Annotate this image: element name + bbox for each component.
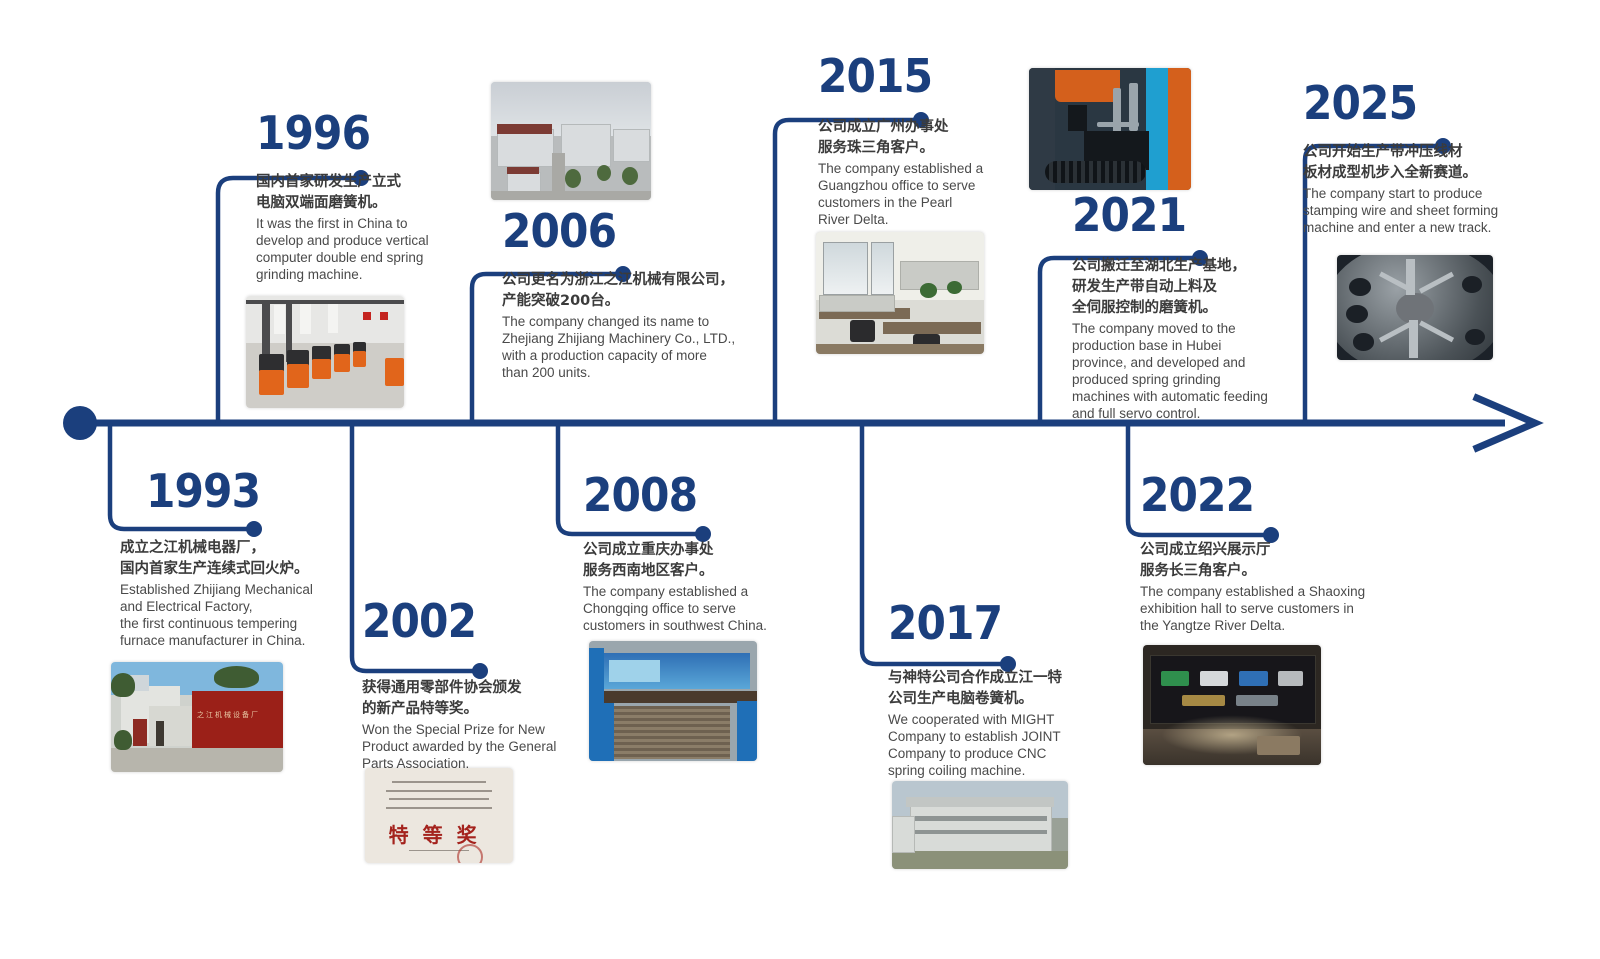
milestone-year-1996: 1996 (256, 110, 449, 156)
milestone-year-1993: 1993 (146, 468, 358, 514)
photo-2025-stamping-forming-machine (1337, 255, 1493, 360)
milestone-en-2025: The company start to produce stamping wi… (1303, 185, 1518, 236)
milestone-cn-2008: 公司成立重庆办事处 服务西南地区客户。 (583, 540, 813, 582)
timeline-infographic: 1996 国内首家研发生产立式 电脑双端面磨簧机。 It was the fir… (0, 0, 1600, 959)
photo-2006-factory-aerial (491, 82, 651, 200)
milestone-year-2002: 2002 (362, 598, 564, 644)
milestone-en-2002: Won the Special Prize for New Product aw… (362, 721, 592, 772)
photo-2022-shaoxing-showroom (1143, 645, 1321, 765)
milestone-en-2008: The company established a Chongqing offi… (583, 583, 813, 634)
photo-1993-red-wall-factory: 之江机械设备厂 (111, 662, 283, 772)
milestone-cn-2021: 公司搬迁至湖北生产基地， 研发生产带自动上料及 全伺服控制的磨簧机。 (1072, 256, 1287, 319)
milestone-2022-text[interactable]: 公司成立绍兴展示厅 服务长三角客户。 The company establish… (1140, 540, 1410, 634)
milestone-cn-2017: 与神特公司合作成立江一特 公司生产电脑卷簧机。 (888, 668, 1098, 710)
milestone-cn-2015: 公司成立广州办事处 服务珠三角客户。 (818, 117, 1018, 159)
milestone-2017[interactable]: 2017 (888, 600, 1108, 646)
milestone-2017-text[interactable]: 与神特公司合作成立江一特 公司生产电脑卷簧机。 We cooperated wi… (888, 668, 1098, 779)
milestone-1996[interactable]: 1996 国内首家研发生产立式 电脑双端面磨簧机。 It was the fir… (256, 110, 466, 283)
milestone-2008[interactable]: 2008 (583, 472, 803, 518)
milestone-year-2017: 2017 (888, 600, 1090, 646)
node-dot-1993 (246, 521, 262, 537)
milestone-en-1996: It was the first in China to develop and… (256, 215, 466, 283)
photo-2017-joint-company-plant (892, 781, 1068, 869)
milestone-en-2015: The company established a Guangzhou offi… (818, 160, 1018, 228)
milestone-en-2021: The company moved to the production base… (1072, 320, 1287, 422)
milestone-cn-2025: 公司开始生产带冲压线材 板材成型机步入全新赛道。 (1303, 142, 1518, 184)
milestone-year-2022: 2022 (1140, 472, 1342, 518)
milestone-2015[interactable]: 2015 公司成立广州办事处 服务珠三角客户。 The company esta… (818, 53, 1018, 228)
photo-2021-automatic-feeding-machine (1029, 68, 1191, 190)
node-dot-2002 (472, 663, 488, 679)
milestone-cn-1996: 国内首家研发生产立式 电脑双端面磨簧机。 (256, 172, 466, 214)
milestone-2002-text[interactable]: 获得通用零部件协会颁发 的新产品特等奖。 Won the Special Pri… (362, 678, 592, 772)
photo-2008-chongqing-office (589, 641, 757, 761)
milestone-en-2022: The company established a Shaoxing exhib… (1140, 583, 1410, 634)
timeline-arrow-right (1477, 398, 1535, 448)
milestone-year-2025: 2025 (1303, 80, 1501, 126)
milestone-2002[interactable]: 2002 (362, 598, 582, 644)
milestone-year-2015: 2015 (818, 53, 1002, 99)
photo-2015-guangzhou-office (816, 232, 984, 354)
timeline-start-dot (63, 406, 97, 440)
milestone-year-2006: 2006 (502, 208, 732, 254)
milestone-cn-1993: 成立之江机械电器厂， 国内首家生产连续式回火炉。 (120, 538, 370, 580)
milestone-2006[interactable]: 2006 公司更名为浙江之江机械有限公司， 产能突破200台。 The comp… (502, 208, 752, 381)
milestone-year-2021: 2021 (1072, 192, 1270, 238)
photo-1996-workshop (246, 296, 404, 408)
milestone-1993-text[interactable]: 成立之江机械电器厂， 国内首家生产连续式回火炉。 Established Zhi… (120, 538, 370, 649)
milestone-2022[interactable]: 2022 (1140, 472, 1360, 518)
photo-2002-award-certificate: 特等奖 (365, 768, 513, 863)
milestone-2008-text[interactable]: 公司成立重庆办事处 服务西南地区客户。 The company establis… (583, 540, 813, 634)
milestone-en-1993: Established Zhijiang Mechanical and Elec… (120, 581, 370, 649)
milestone-1993[interactable]: 1993 (146, 468, 376, 514)
milestone-2021[interactable]: 2021 公司搬迁至湖北生产基地， 研发生产带自动上料及 全伺服控制的磨簧机。 … (1072, 192, 1287, 422)
milestone-cn-2022: 公司成立绍兴展示厅 服务长三角客户。 (1140, 540, 1410, 582)
milestone-en-2017: We cooperated with MIGHT Company to esta… (888, 711, 1098, 779)
milestone-year-2008: 2008 (583, 472, 785, 518)
milestone-cn-2006: 公司更名为浙江之江机械有限公司， 产能突破200台。 (502, 270, 752, 312)
milestone-en-2006: The company changed its name to Zhejiang… (502, 313, 752, 381)
milestone-cn-2002: 获得通用零部件协会颁发 的新产品特等奖。 (362, 678, 592, 720)
milestone-2025[interactable]: 2025 公司开始生产带冲压线材 板材成型机步入全新赛道。 The compan… (1303, 80, 1518, 236)
